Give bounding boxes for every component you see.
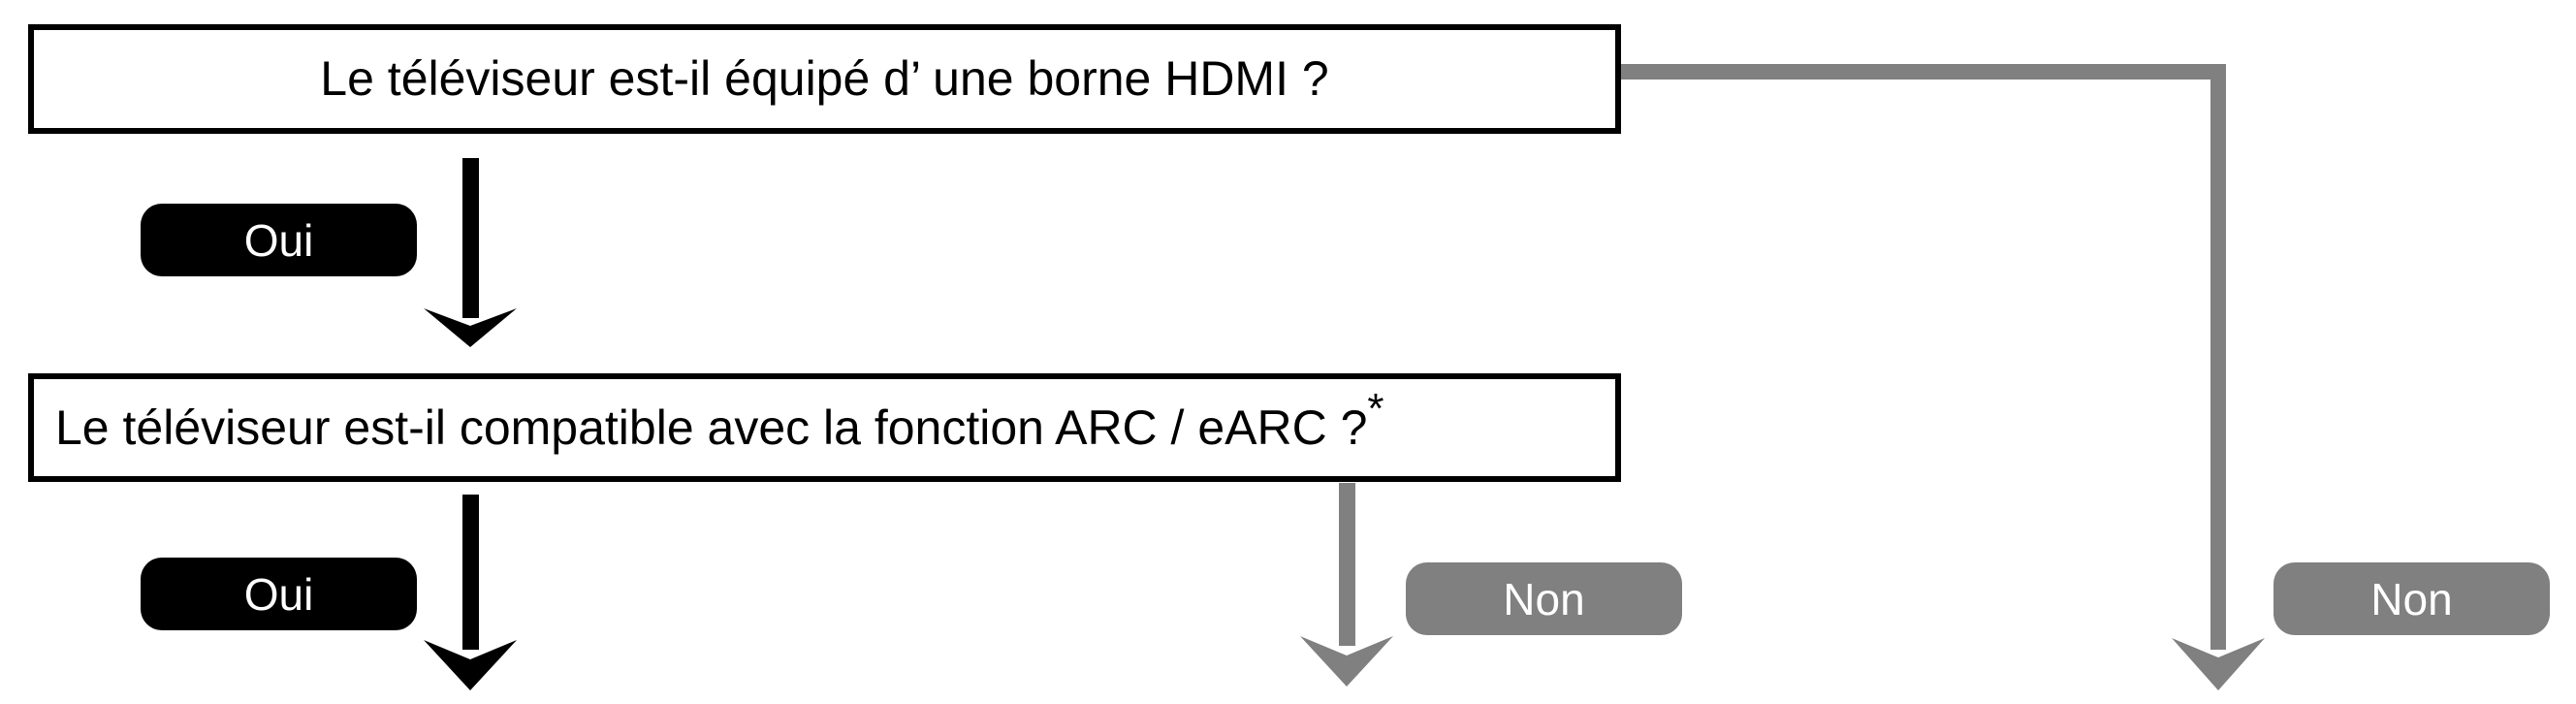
answer-pill-non-arc[interactable]: Non bbox=[1406, 562, 1682, 635]
flowchart-canvas: Le téléviseur est-il équipé d’ une borne… bbox=[0, 0, 2576, 704]
decision-box-arc[interactable]: Le téléviseur est-il compatible avec la … bbox=[28, 373, 1621, 482]
answer-pill-non-arc-label: Non bbox=[1503, 573, 1584, 625]
arrow-arc-no bbox=[1300, 483, 1393, 687]
answer-pill-oui-arc[interactable]: Oui bbox=[141, 558, 417, 630]
arrow-hdmi-yes bbox=[424, 158, 517, 347]
decision-box-hdmi-text: Le téléviseur est-il équipé d’ une borne… bbox=[320, 52, 1328, 106]
arrow-hdmi-no bbox=[1619, 64, 2265, 690]
decision-box-hdmi[interactable]: Le téléviseur est-il équipé d’ une borne… bbox=[28, 24, 1621, 134]
answer-pill-oui-arc-label: Oui bbox=[244, 568, 314, 621]
answer-pill-oui-hdmi-label: Oui bbox=[244, 214, 314, 267]
footnote-asterisk: * bbox=[1367, 385, 1383, 432]
arrow-arc-yes bbox=[424, 495, 517, 690]
answer-pill-non-hdmi[interactable]: Non bbox=[2274, 562, 2550, 635]
decision-box-arc-text: Le téléviseur est-il compatible avec la … bbox=[55, 401, 1384, 455]
answer-pill-non-hdmi-label: Non bbox=[2370, 573, 2452, 625]
answer-pill-oui-hdmi[interactable]: Oui bbox=[141, 204, 417, 276]
decision-box-arc-question: Le téléviseur est-il compatible avec la … bbox=[55, 400, 1367, 455]
